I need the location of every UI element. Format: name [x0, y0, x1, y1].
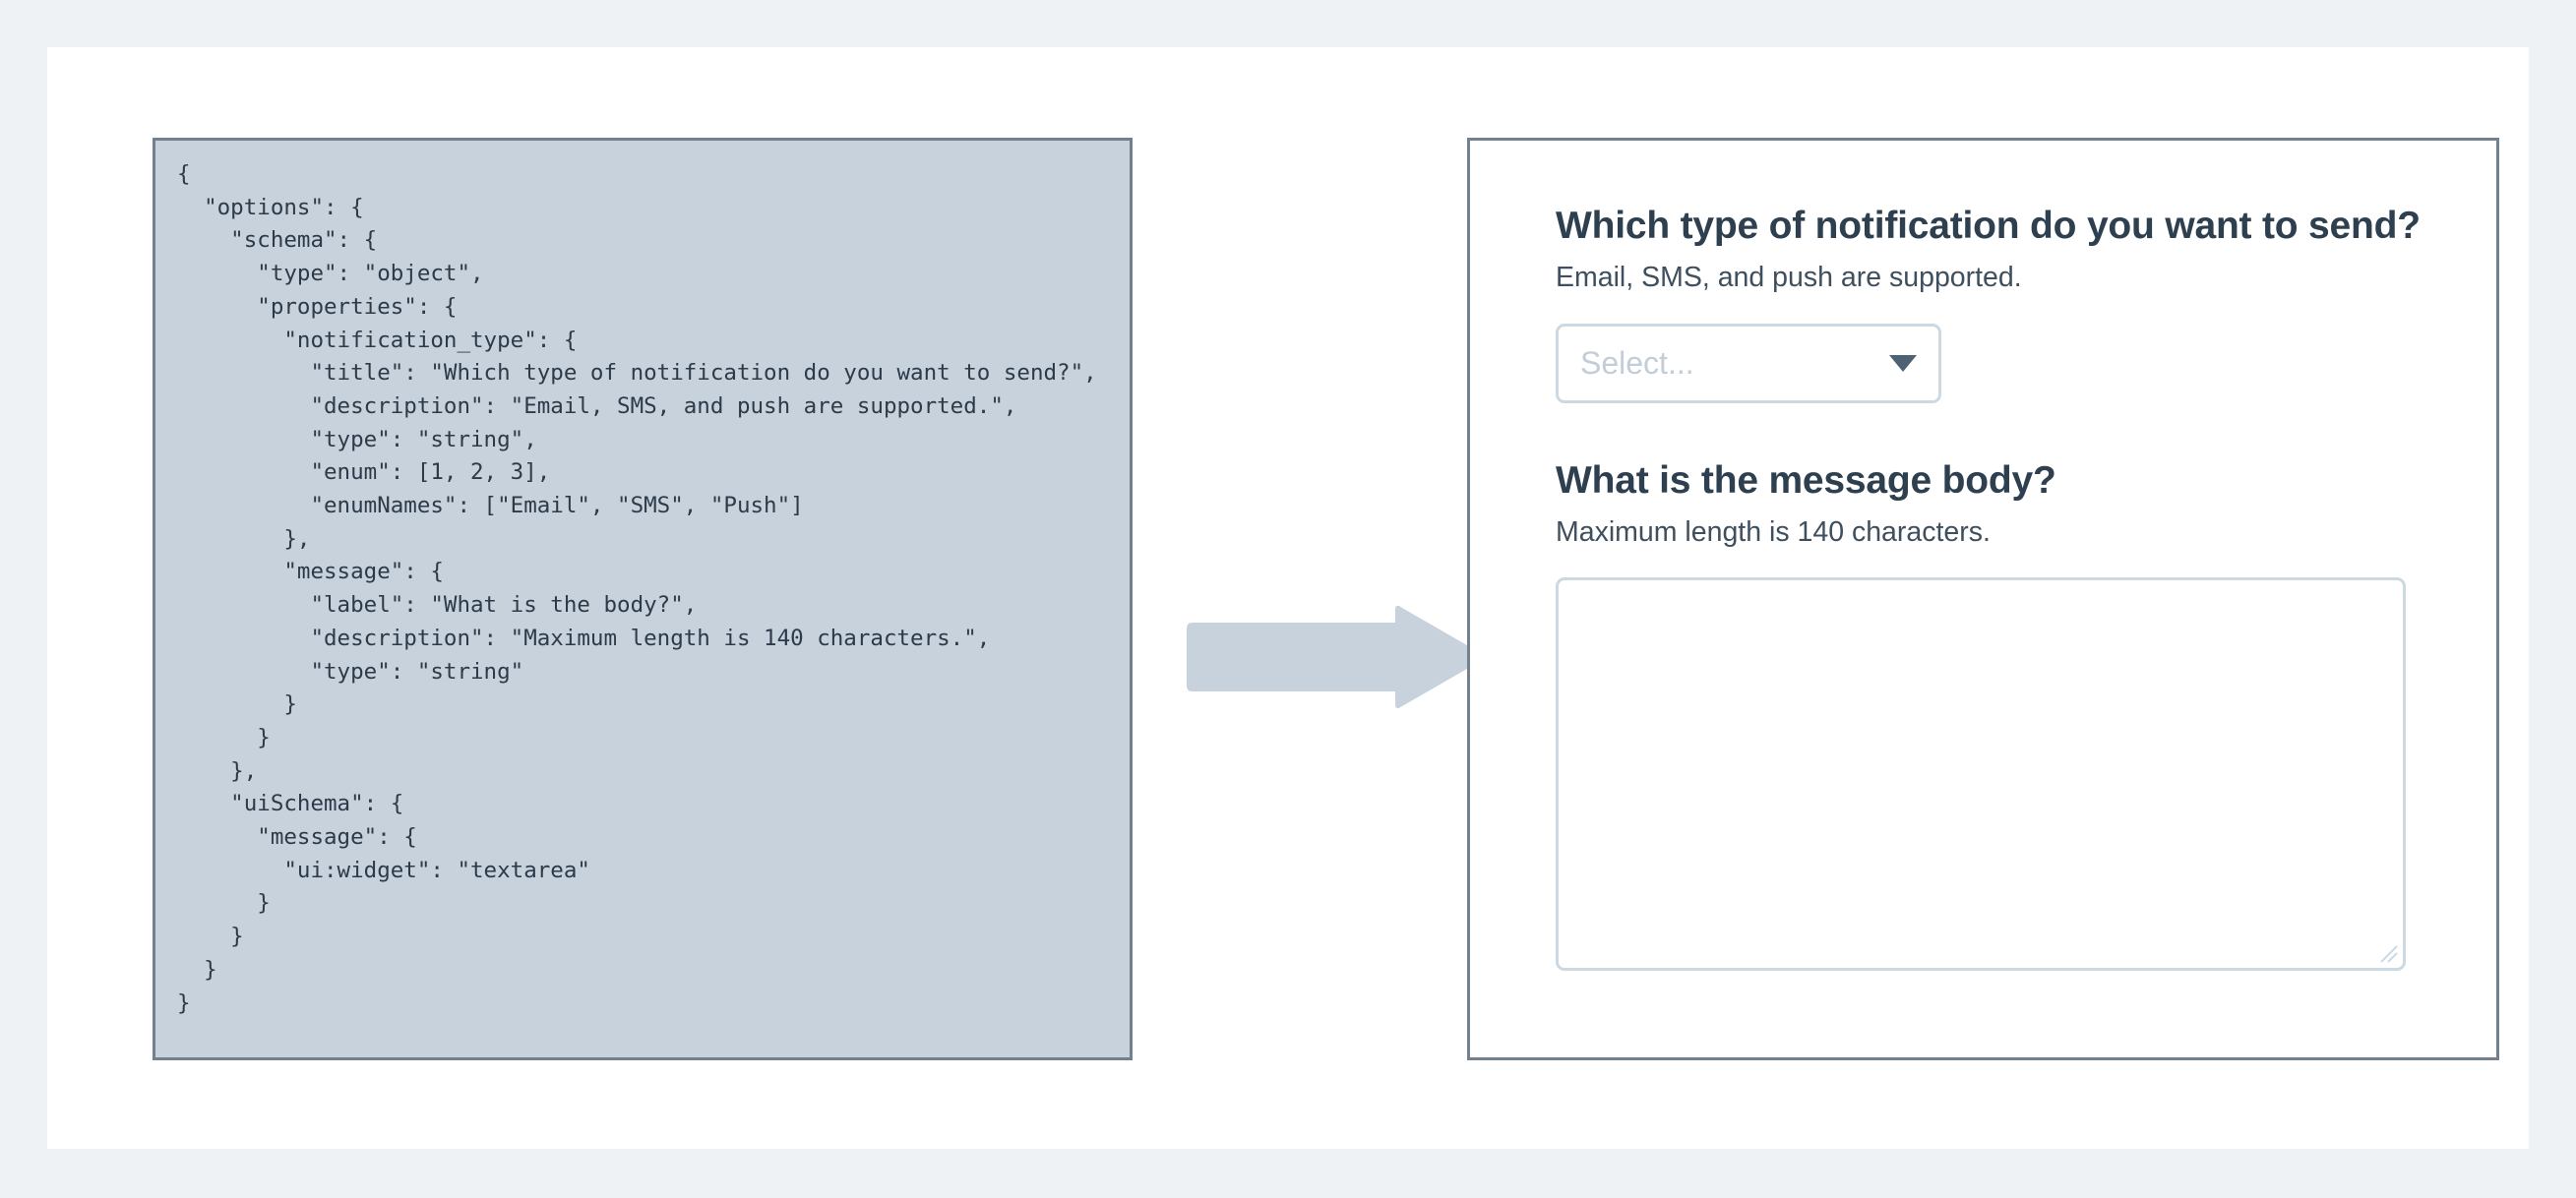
chevron-down-icon [1889, 355, 1917, 372]
field-title-message-body: What is the message body? [1556, 456, 2427, 506]
field-description-message-body: Maximum length is 140 characters. [1556, 514, 2427, 551]
notification-type-select[interactable]: Select... [1556, 324, 1941, 403]
field-title-notification-type: Which type of notification do you want t… [1556, 202, 2427, 251]
json-schema-code: { "options": { "schema": { "type": "obje… [177, 158, 1110, 1020]
content-card: { "options": { "schema": { "type": "obje… [47, 47, 2529, 1149]
form-field-message-body: What is the message body? Maximum length… [1556, 456, 2427, 971]
arrow-shape-icon [1181, 603, 1486, 711]
form-field-notification-type: Which type of notification do you want t… [1556, 202, 2427, 403]
message-body-textarea[interactable] [1556, 577, 2406, 971]
select-placeholder-text: Select... [1580, 347, 1877, 379]
page-root: { "options": { "schema": { "type": "obje… [0, 0, 2576, 1198]
field-description-notification-type: Email, SMS, and push are supported. [1556, 260, 2427, 296]
rendered-form-panel: Which type of notification do you want t… [1467, 138, 2499, 1060]
flow-arrow-right [1181, 603, 1486, 711]
json-schema-panel: { "options": { "schema": { "type": "obje… [153, 138, 1133, 1060]
message-body-wrapper [1556, 577, 2406, 971]
